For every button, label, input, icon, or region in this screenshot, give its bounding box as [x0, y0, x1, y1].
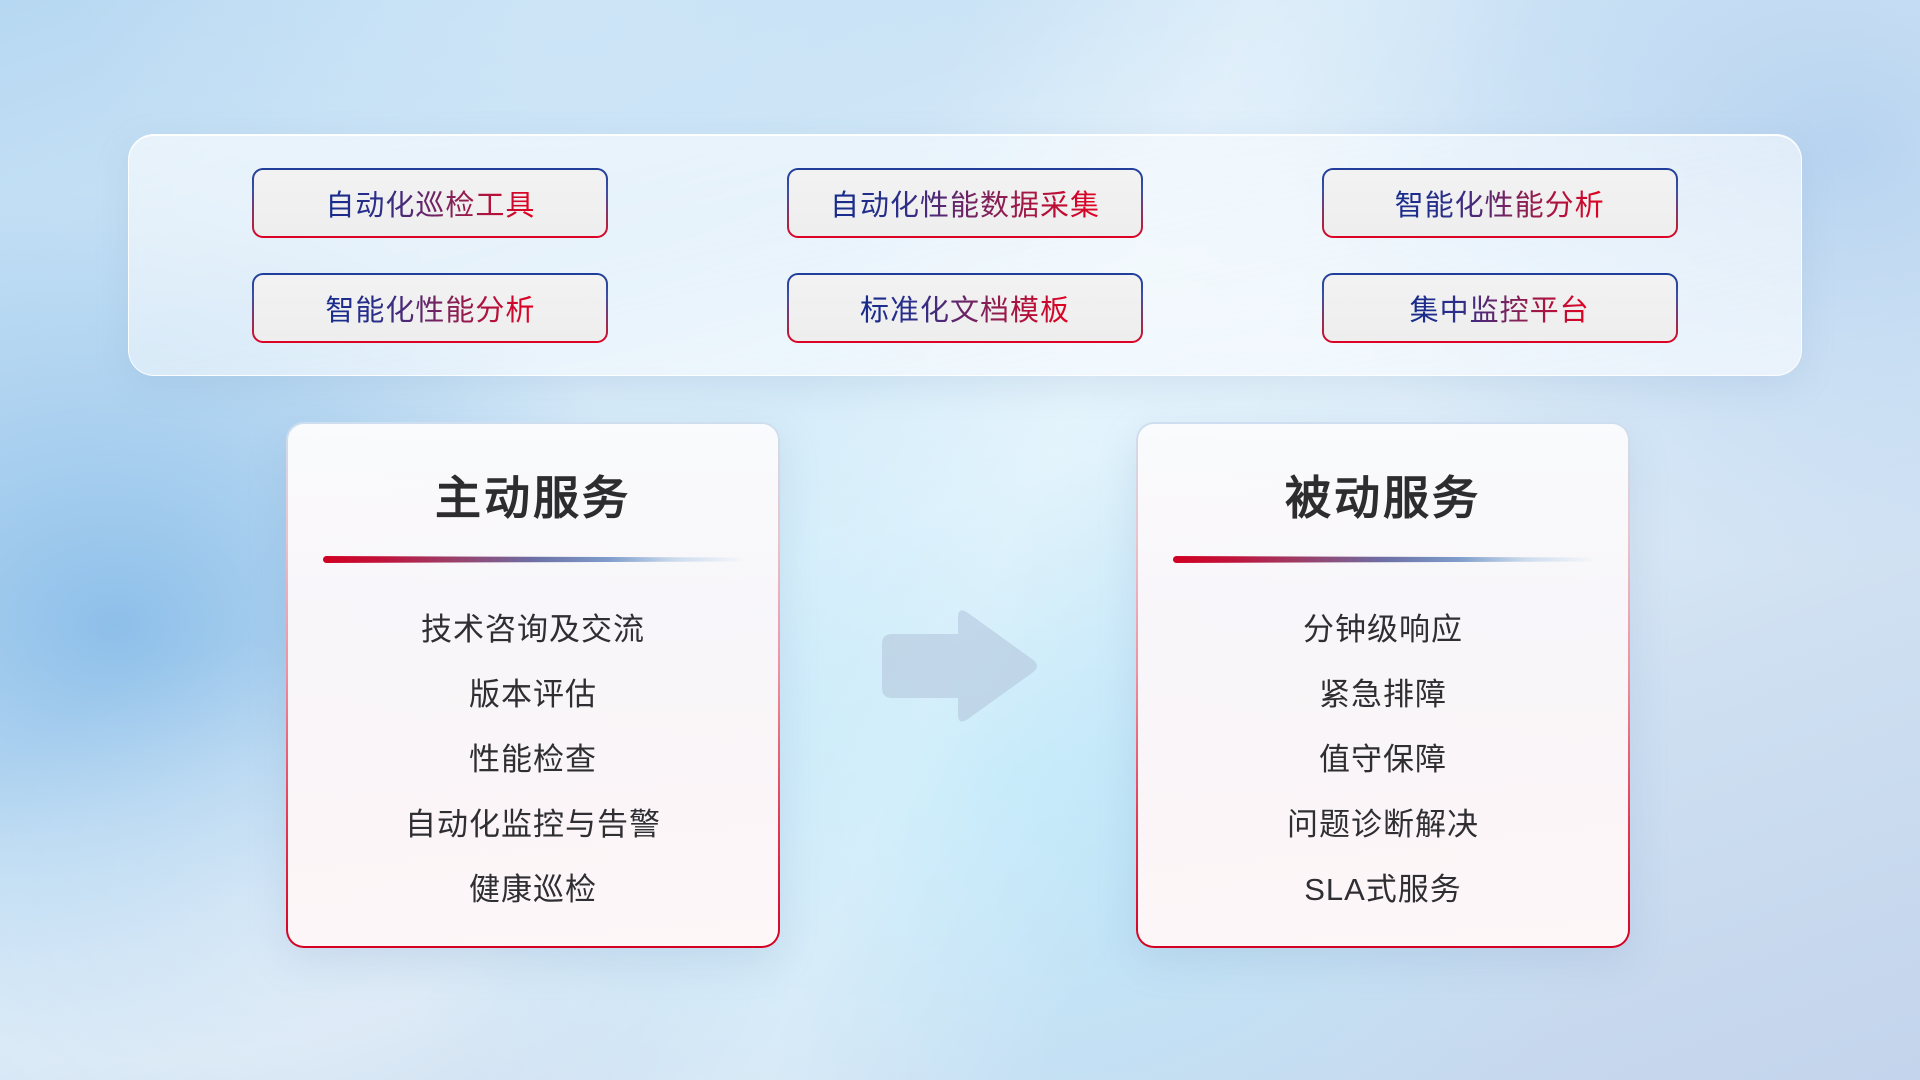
- reactive-card-divider: [1173, 556, 1593, 563]
- list-item: 版本评估: [288, 662, 778, 727]
- capability-tags-grid: 自动化巡检工具 自动化性能数据采集 智能化性能分析 智能化性能分析 标准化文档模…: [129, 135, 1801, 375]
- tag-chip-label: 智能化性能分析: [325, 287, 535, 329]
- reactive-service-list: 分钟级响应 紧急排障 值守保障 问题诊断解决 SLA式服务: [1138, 563, 1628, 922]
- tag-chip-3[interactable]: 智能化性能分析: [1322, 168, 1678, 238]
- proactive-service-list: 技术咨询及交流 版本评估 性能检查 自动化监控与告警 健康巡检: [288, 563, 778, 922]
- list-item: 自动化监控与告警: [288, 792, 778, 857]
- capability-tags-panel: 自动化巡检工具 自动化性能数据采集 智能化性能分析 智能化性能分析 标准化文档模…: [128, 134, 1802, 376]
- tag-chip-4[interactable]: 智能化性能分析: [252, 273, 608, 343]
- list-item: SLA式服务: [1138, 857, 1628, 922]
- tag-chip-label: 智能化性能分析: [1395, 182, 1605, 224]
- list-item: 技术咨询及交流: [288, 597, 778, 662]
- list-item: 健康巡检: [288, 857, 778, 922]
- tag-chip-label: 自动化性能数据采集: [830, 182, 1100, 224]
- list-item: 问题诊断解决: [1138, 792, 1628, 857]
- reactive-service-card: 被动服务 分钟级响应 紧急排障 值守保障 问题诊断解决 SLA式服务: [1136, 422, 1630, 948]
- tag-chip-label: 自动化巡检工具: [325, 182, 535, 224]
- tag-chip-label: 标准化文档模板: [860, 287, 1070, 329]
- list-item: 紧急排障: [1138, 662, 1628, 727]
- list-item: 值守保障: [1138, 727, 1628, 792]
- tag-chip-6[interactable]: 集中监控平台: [1322, 273, 1678, 343]
- tag-chip-1[interactable]: 自动化巡检工具: [252, 168, 608, 238]
- tag-chip-label: 集中监控平台: [1410, 287, 1590, 329]
- list-item: 分钟级响应: [1138, 597, 1628, 662]
- list-item: 性能检查: [288, 727, 778, 792]
- proactive-service-card: 主动服务 技术咨询及交流 版本评估 性能检查 自动化监控与告警 健康巡检: [286, 422, 780, 948]
- proactive-card-title: 主动服务: [288, 462, 778, 528]
- tag-chip-5[interactable]: 标准化文档模板: [787, 273, 1143, 343]
- arrow-right-icon: [872, 608, 1040, 726]
- tag-chip-2[interactable]: 自动化性能数据采集: [787, 168, 1143, 238]
- proactive-card-divider: [323, 556, 743, 563]
- reactive-card-title: 被动服务: [1138, 462, 1628, 528]
